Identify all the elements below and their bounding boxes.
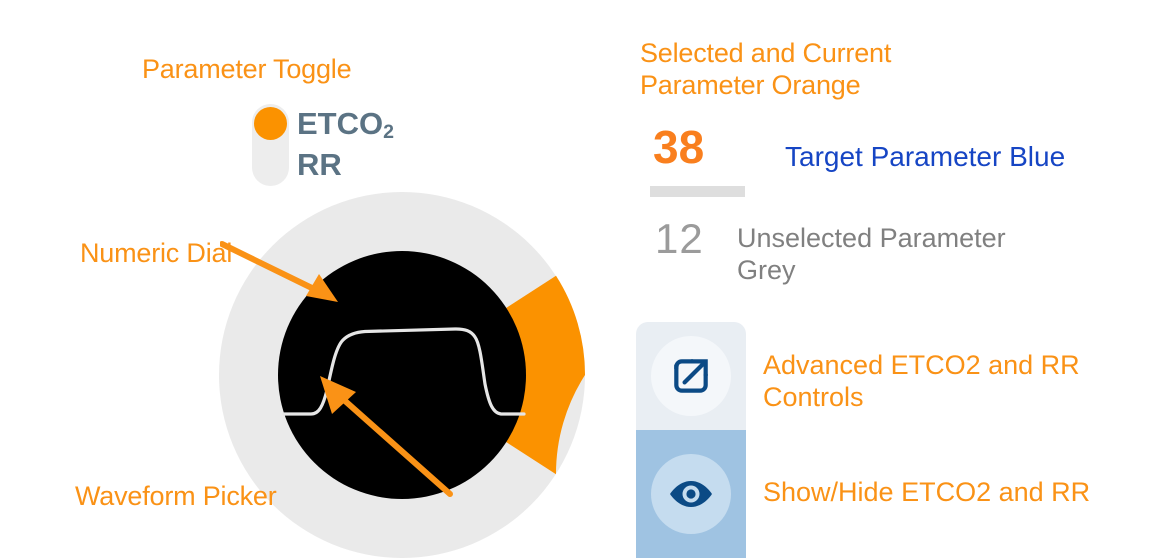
numeric-dial-arrow-icon xyxy=(220,240,350,310)
unselected-parameter-value: 12 xyxy=(655,218,704,260)
current-parameter-value: 38 xyxy=(653,124,704,170)
waveform-picker-annotation: Waveform Picker xyxy=(75,481,277,513)
toggle-option-etco2-label: ETCO xyxy=(297,106,383,141)
toggle-option-rr[interactable]: RR xyxy=(297,145,394,186)
parameter-toggle-annotation: Parameter Toggle xyxy=(142,54,442,86)
unselected-parameter-annotation: Unselected Parameter Grey xyxy=(737,223,1067,286)
parameter-toggle-knob[interactable] xyxy=(254,107,287,140)
etco2-subscript: 2 xyxy=(383,121,394,143)
numeric-dial-annotation: Numeric Dial xyxy=(80,238,232,270)
parameter-toggle-options: ETCO2 RR xyxy=(297,104,394,186)
show-hide-button[interactable] xyxy=(636,430,746,558)
value-divider xyxy=(650,186,745,197)
target-parameter-annotation: Target Parameter Blue xyxy=(785,141,1065,173)
toggle-option-etco2[interactable]: ETCO2 xyxy=(297,104,394,145)
advanced-controls-annotation: Advanced ETCO2 and RR Controls xyxy=(763,350,1133,413)
advanced-controls-icon-bg xyxy=(651,336,731,416)
show-hide-annotation: Show/Hide ETCO2 and RR xyxy=(763,477,1151,509)
open-in-new-icon xyxy=(669,354,713,398)
advanced-controls-button[interactable] xyxy=(636,322,746,430)
eye-icon xyxy=(666,477,716,511)
show-hide-icon-bg xyxy=(651,454,731,534)
selected-current-parameter-annotation: Selected and Current Parameter Orange xyxy=(640,38,1060,101)
waveform-picker-arrow-icon xyxy=(300,370,460,500)
